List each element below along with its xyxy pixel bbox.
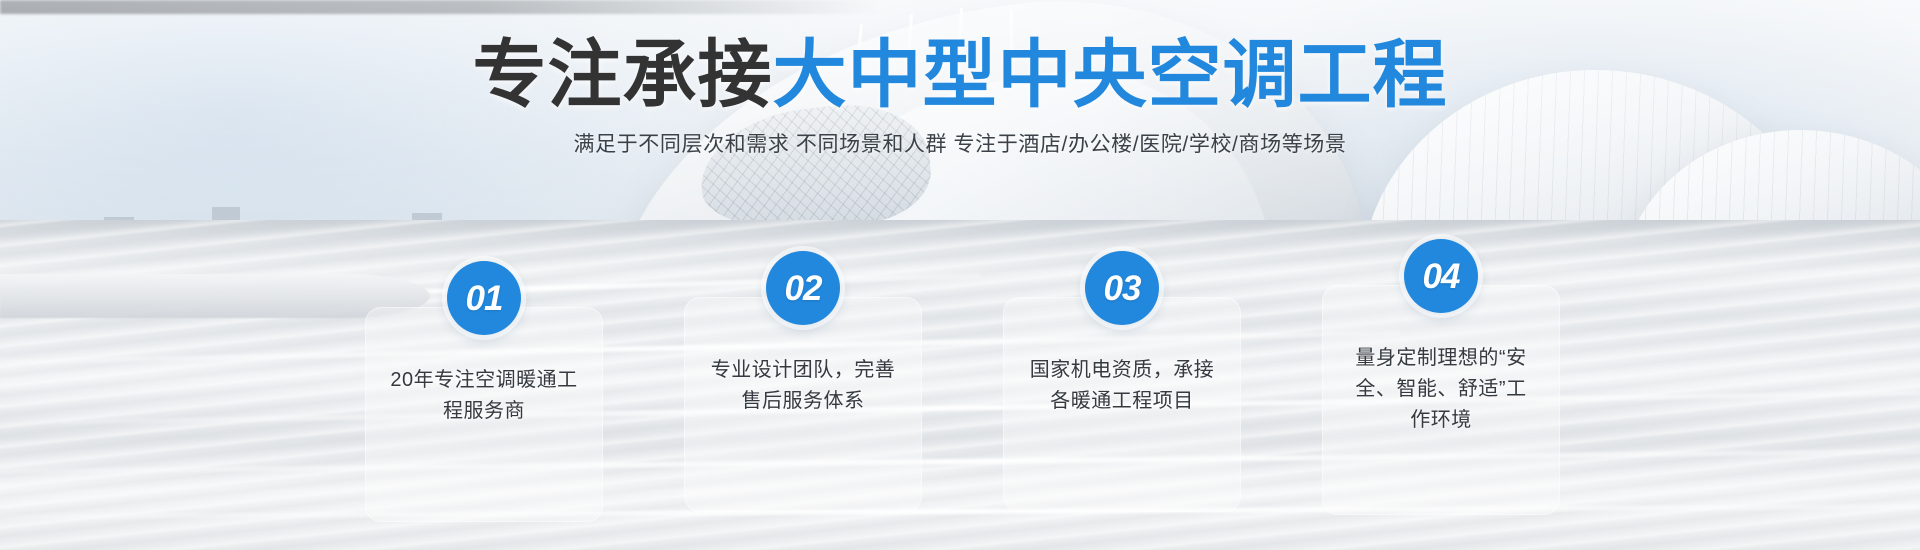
page-title: 专注承接大中型中央空调工程 [0, 38, 1920, 112]
headline-dark-text: 专注承接 [473, 33, 773, 116]
feature-card-text: 20年专注空调暖通工程服务商 [377, 365, 591, 427]
badge-circle: 02 [766, 251, 840, 325]
page-subtitle: 满足于不同层次和需求 不同场景和人群 专注于酒店/办公楼/医院/学校/商场等场景 [0, 128, 1920, 158]
badge-circle: 01 [447, 261, 521, 335]
headline-blue-text: 大中型中央空调工程 [773, 33, 1448, 116]
feature-card-text: 国家机电资质，承接各暖通工程项目 [1015, 355, 1229, 417]
feature-card-list: 01 20年专注空调暖通工程服务商 02 专业设计团队，完善售后服务体系 03 … [365, 275, 1560, 515]
badge-number: 04 [1423, 259, 1460, 294]
badge-number: 01 [466, 281, 503, 316]
badge-number: 02 [785, 271, 822, 306]
badge-circle: 04 [1404, 239, 1478, 313]
feature-card-text: 量身定制理想的“安全、智能、舒适”工作环境 [1334, 343, 1548, 436]
badge-number: 03 [1104, 271, 1141, 306]
banner-content: 专注承接大中型中央空调工程 满足于不同层次和需求 不同场景和人群 专注于酒店/办… [0, 0, 1920, 550]
feature-card-text: 专业设计团队，完善售后服务体系 [696, 355, 910, 417]
feature-card[interactable]: 01 20年专注空调暖通工程服务商 [365, 307, 603, 522]
badge-circle: 03 [1085, 251, 1159, 325]
feature-card[interactable]: 03 国家机电资质，承接各暖通工程项目 [1003, 297, 1241, 512]
feature-card[interactable]: 04 量身定制理想的“安全、智能、舒适”工作环境 [1322, 285, 1560, 515]
hero-banner: 专注承接大中型中央空调工程 满足于不同层次和需求 不同场景和人群 专注于酒店/办… [0, 0, 1920, 550]
feature-card[interactable]: 02 专业设计团队，完善售后服务体系 [684, 297, 922, 512]
